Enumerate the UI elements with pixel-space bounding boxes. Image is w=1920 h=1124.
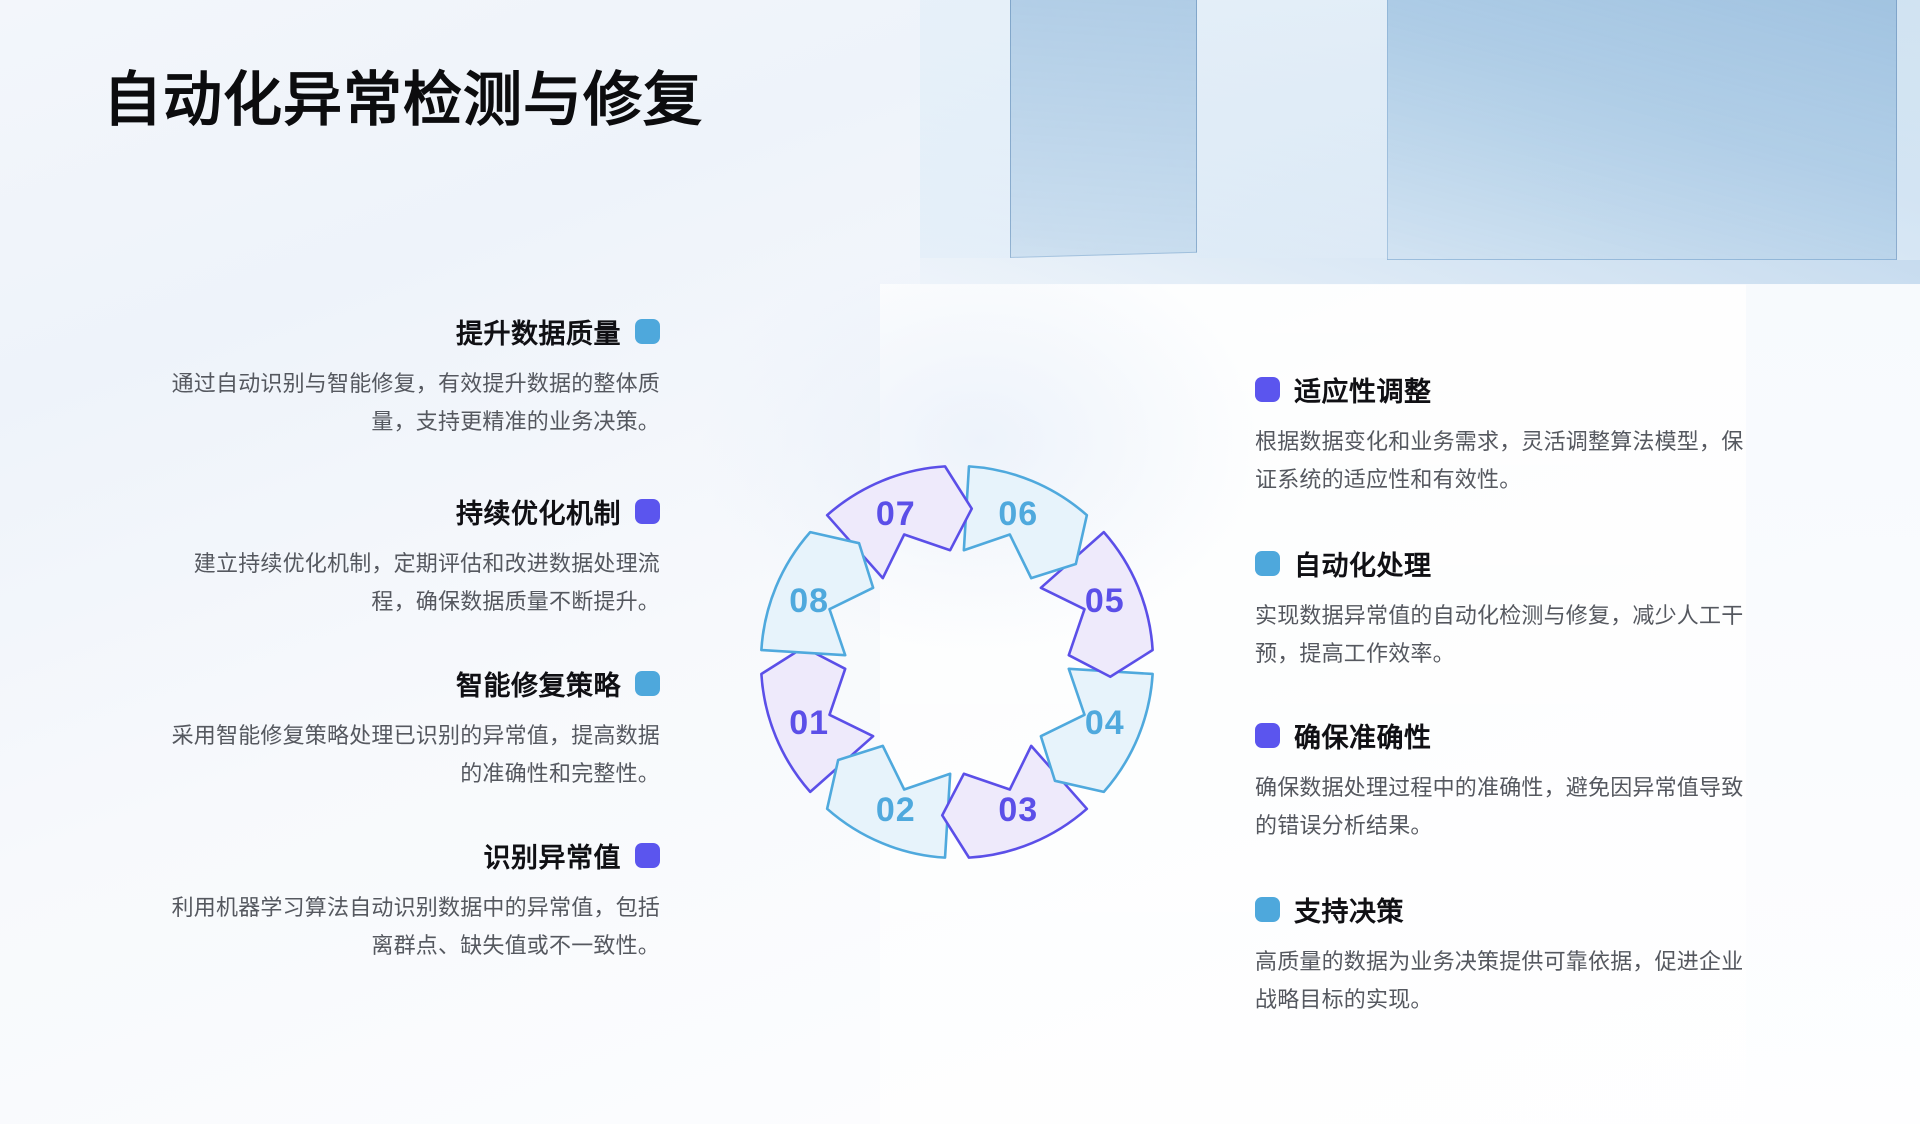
feature-body: 实现数据异常值的自动化检测与修复，减少人工干预，提高工作效率。 — [1255, 597, 1755, 673]
feature-item-right-4[interactable]: 支持决策 高质量的数据为业务决策提供可靠依据，促进企业战略目标的实现。 — [1255, 890, 1755, 1019]
feature-body: 利用机器学习算法自动识别数据中的异常值，包括离群点、缺失值或不一致性。 — [160, 889, 660, 965]
bullet-marker-icon — [635, 499, 660, 524]
feature-header: 持续优化机制 — [160, 492, 660, 531]
bullet-marker-icon — [1255, 377, 1280, 402]
bullet-marker-icon — [1255, 723, 1280, 748]
ring-segment-label-02: 02 — [876, 791, 916, 829]
bullet-marker-icon — [1255, 551, 1280, 576]
ring-segment-label-04: 04 — [1085, 704, 1125, 742]
feature-header: 智能修复策略 — [160, 664, 660, 703]
page-title: 自动化异常检测与修复 — [103, 52, 703, 137]
feature-header: 确保准确性 — [1255, 716, 1755, 755]
feature-title: 智能修复策略 — [456, 664, 621, 703]
background-right-column-sheet — [1746, 284, 1920, 1124]
feature-item-right-2[interactable]: 自动化处理 实现数据异常值的自动化检测与修复，减少人工干预，提高工作效率。 — [1255, 544, 1755, 673]
background-glass-panel-5 — [1897, 0, 1920, 260]
ring-segment-label-08: 08 — [789, 582, 829, 620]
feature-body: 建立持续优化机制，定期评估和改进数据处理流程，确保数据质量不断提升。 — [160, 545, 660, 621]
feature-item-left-3[interactable]: 智能修复策略 采用智能修复策略处理已识别的异常值，提高数据的准确性和完整性。 — [160, 664, 660, 793]
bullet-marker-icon — [635, 319, 660, 344]
feature-title: 适应性调整 — [1294, 370, 1432, 409]
feature-body: 通过自动识别与智能修复，有效提升数据的整体质量，支持更精准的业务决策。 — [160, 365, 660, 441]
feature-body: 确保数据处理过程中的准确性，避免因异常值导致的错误分析结果。 — [1255, 769, 1755, 845]
bullet-marker-icon — [1255, 897, 1280, 922]
feature-header: 识别异常值 — [160, 836, 660, 875]
feature-item-right-1[interactable]: 适应性调整 根据数据变化和业务需求，灵活调整算法模型，保证系统的适应性和有效性。 — [1255, 370, 1755, 499]
background-glass-panel-1 — [920, 0, 1010, 258]
feature-item-left-1[interactable]: 提升数据质量 通过自动识别与智能修复，有效提升数据的整体质量，支持更精准的业务决… — [160, 312, 660, 441]
slide-canvas: 自动化异常检测与修复 提升数据质量 通过自动识别与智能修复，有效提升数据的整体质… — [0, 0, 1920, 1124]
feature-title: 自动化处理 — [1294, 544, 1432, 583]
feature-header: 提升数据质量 — [160, 312, 660, 351]
ring-segment-label-03: 03 — [998, 791, 1038, 829]
feature-body: 高质量的数据为业务决策提供可靠依据，促进企业战略目标的实现。 — [1255, 943, 1755, 1019]
feature-title: 确保准确性 — [1294, 716, 1432, 755]
feature-title: 识别异常值 — [484, 836, 622, 875]
bullet-marker-icon — [635, 843, 660, 868]
feature-body: 根据数据变化和业务需求，灵活调整算法模型，保证系统的适应性和有效性。 — [1255, 423, 1755, 499]
feature-item-left-2[interactable]: 持续优化机制 建立持续优化机制，定期评估和改进数据处理流程，确保数据质量不断提升… — [160, 492, 660, 621]
cycle-ring-svg: 0102030405060708 — [747, 452, 1167, 872]
background-glass-panel-3 — [1197, 0, 1387, 258]
cycle-ring-diagram: 0102030405060708 — [747, 452, 1167, 872]
background-glass-panel-2 — [1010, 0, 1197, 258]
feature-title: 提升数据质量 — [456, 312, 621, 351]
feature-title: 支持决策 — [1294, 890, 1404, 929]
ring-segment-label-06: 06 — [998, 495, 1038, 533]
background-glass-panel-4 — [1387, 0, 1897, 260]
background-sky-gradient — [920, 0, 1920, 285]
ring-segment-label-07: 07 — [876, 495, 916, 533]
ring-segment-label-01: 01 — [789, 704, 829, 742]
feature-header: 支持决策 — [1255, 890, 1755, 929]
bullet-marker-icon — [635, 671, 660, 696]
ring-segment-label-05: 05 — [1085, 582, 1125, 620]
feature-header: 适应性调整 — [1255, 370, 1755, 409]
feature-header: 自动化处理 — [1255, 544, 1755, 583]
feature-item-left-4[interactable]: 识别异常值 利用机器学习算法自动识别数据中的异常值，包括离群点、缺失值或不一致性… — [160, 836, 660, 965]
feature-body: 采用智能修复策略处理已识别的异常值，提高数据的准确性和完整性。 — [160, 717, 660, 793]
feature-title: 持续优化机制 — [456, 492, 621, 531]
feature-item-right-3[interactable]: 确保准确性 确保数据处理过程中的准确性，避免因异常值导致的错误分析结果。 — [1255, 716, 1755, 845]
